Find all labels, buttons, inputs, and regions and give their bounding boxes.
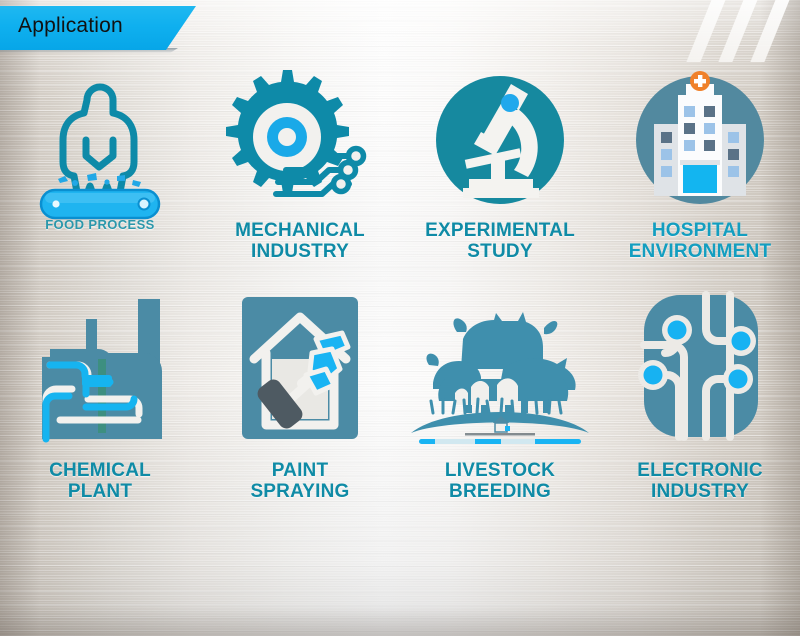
application-item-label: FOOD PROCESS [45,218,155,233]
application-panel: Application [0,0,800,636]
application-item-label: MECHANICALINDUSTRY [235,220,365,263]
application-item-label: ELECTRONICINDUSTRY [637,460,763,503]
application-item-chemical-plant[interactable]: CHEMICALPLANT [0,277,200,517]
application-item-label: LIVESTOCKBREEDING [445,460,555,503]
application-icon-grid: FOOD PROCESS [0,62,800,517]
farm-animals-icon [405,277,595,452]
application-item-experimental-study[interactable]: EXPERIMENTALSTUDY [400,62,600,277]
microscope-circle-icon [425,62,575,212]
chemical-plant-icon [20,277,180,452]
circuit-board-icon [620,277,780,452]
corner-slash-decoration [660,0,800,62]
hospital-circle-icon [625,62,775,212]
house-paint-roller-icon [220,277,380,452]
application-item-paint-spraying[interactable]: PAINTSPRAYING [200,277,400,517]
icon-row: CHEMICALPLANT [0,277,800,517]
application-item-mechanical-industry[interactable]: MECHANICALINDUSTRY [200,62,400,277]
application-item-label: CHEMICALPLANT [49,460,151,503]
icon-row: FOOD PROCESS [0,62,800,277]
application-item-label: EXPERIMENTALSTUDY [425,220,575,263]
application-item-food-process[interactable]: FOOD PROCESS [0,62,200,277]
application-item-label: HOSPITALENVIRONMENT [629,220,772,263]
person-conveyor-icon [25,62,175,212]
application-item-electronic-industry[interactable]: ELECTRONICINDUSTRY [600,277,800,517]
gear-circuit-icon [218,62,383,212]
application-item-label: PAINTSPRAYING [250,460,349,503]
banner-title: Application [18,14,123,38]
application-item-hospital-environment[interactable]: HOSPITALENVIRONMENT [600,62,800,277]
application-item-livestock-breeding[interactable]: LIVESTOCKBREEDING [400,277,600,517]
background-bottom-edge-shade [0,606,800,636]
